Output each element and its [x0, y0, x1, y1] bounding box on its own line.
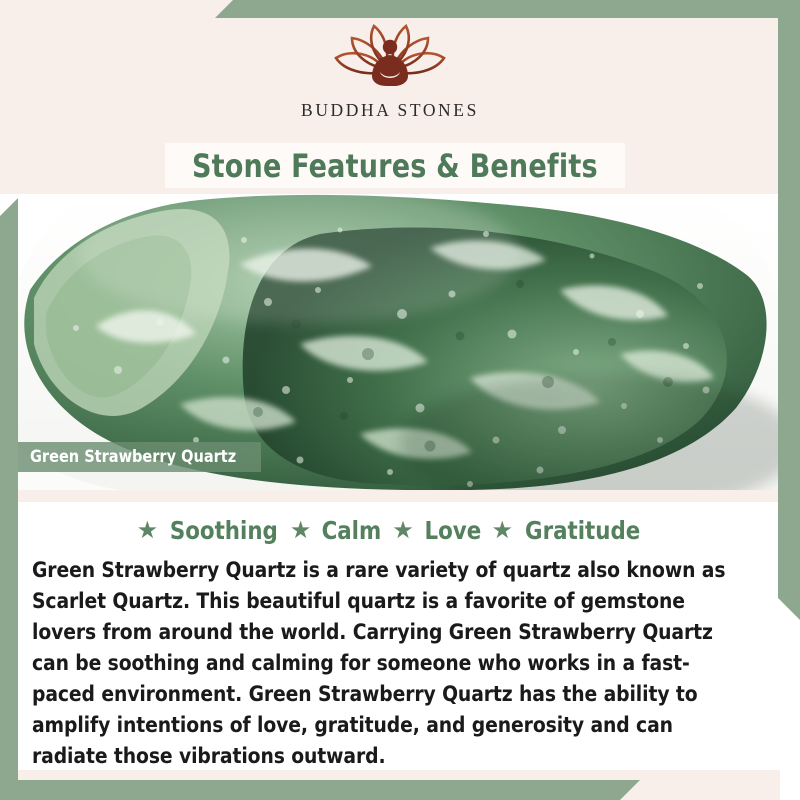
frame-band-bottom: [0, 780, 640, 800]
content-area: ★ Soothing ★ Calm ★ Love ★ Gratitude Gre…: [0, 502, 780, 770]
star-icon: ★: [137, 519, 159, 543]
stone-photo: Green Strawberry Quartz: [0, 194, 780, 490]
frame-band-left: [0, 198, 18, 800]
frame-band-top: [215, 0, 800, 18]
keyword-list: ★ Soothing ★ Calm ★ Love ★ Gratitude: [0, 516, 780, 545]
keyword-gratitude: Gratitude: [525, 516, 640, 545]
frame-band-right: [778, 0, 800, 620]
lotus-meditation-figure-icon: [324, 22, 456, 96]
keyword-soothing: Soothing: [170, 516, 278, 545]
photo-caption-bar: Green Strawberry Quartz: [18, 442, 261, 472]
photo-caption-text: Green Strawberry Quartz: [30, 447, 236, 467]
star-icon: ★: [491, 519, 513, 543]
description-paragraph: Green Strawberry Quartz is a rare variet…: [32, 555, 730, 772]
brand-name: BUDDHA STONES: [301, 100, 479, 121]
title-panel: Stone Features & Benefits: [165, 143, 625, 188]
keyword-calm: Calm: [322, 516, 382, 545]
star-icon: ★: [290, 519, 312, 543]
keyword-love: Love: [424, 516, 481, 545]
page-title: Stone Features & Benefits: [192, 147, 598, 185]
divider-strip: [0, 490, 780, 502]
brand-logo: BUDDHA STONES: [0, 22, 780, 121]
star-icon: ★: [392, 519, 414, 543]
header-panel: BUDDHA STONES Stone Features & Benefits: [0, 0, 780, 196]
stone-info-poster: BUDDHA STONES Stone Features & Benefits: [0, 0, 800, 800]
